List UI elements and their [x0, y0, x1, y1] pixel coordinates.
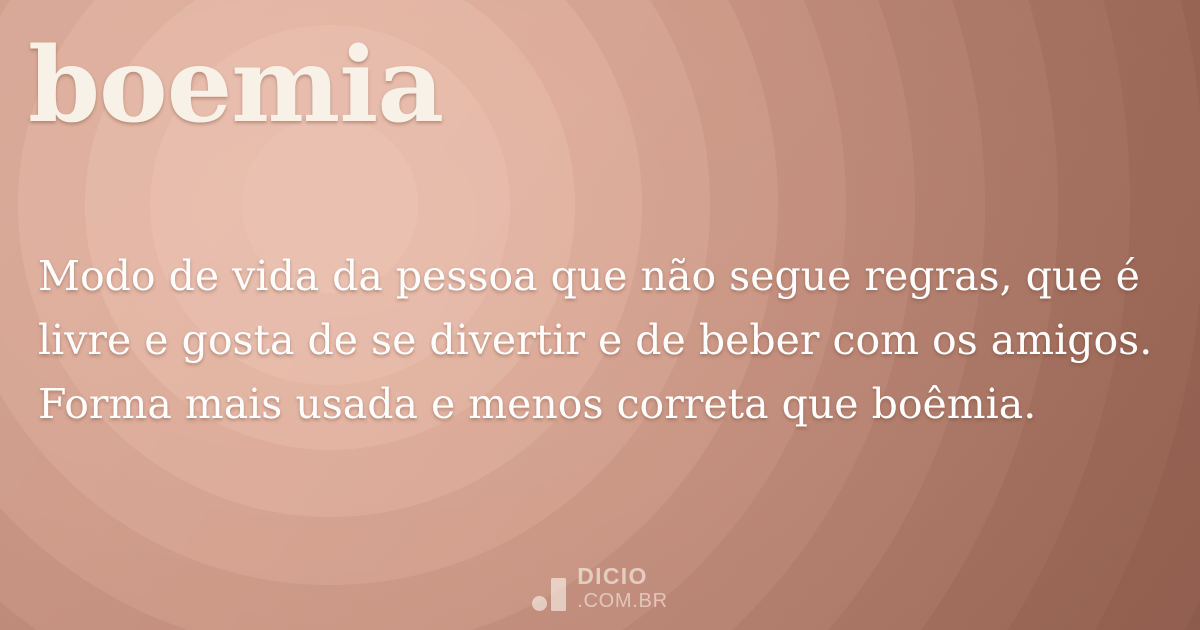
- logo-name: DICIO: [577, 565, 667, 588]
- logo-tld: .COM.BR: [577, 591, 667, 611]
- definition-text: Modo de vida da pessoa que não segue reg…: [38, 244, 1168, 436]
- definition-card: boemia Modo de vida da pessoa que não se…: [0, 0, 1200, 630]
- dicio-logo[interactable]: DICIO .COM.BR: [0, 565, 1200, 612]
- headword-title: boemia: [28, 32, 443, 140]
- circle-mark-icon: [532, 596, 547, 611]
- bar-mark-icon: [551, 578, 566, 611]
- logo-wordmark: DICIO .COM.BR: [577, 565, 667, 612]
- logo-mark: [532, 576, 568, 612]
- card-content: boemia Modo de vida da pessoa que não se…: [0, 0, 1200, 630]
